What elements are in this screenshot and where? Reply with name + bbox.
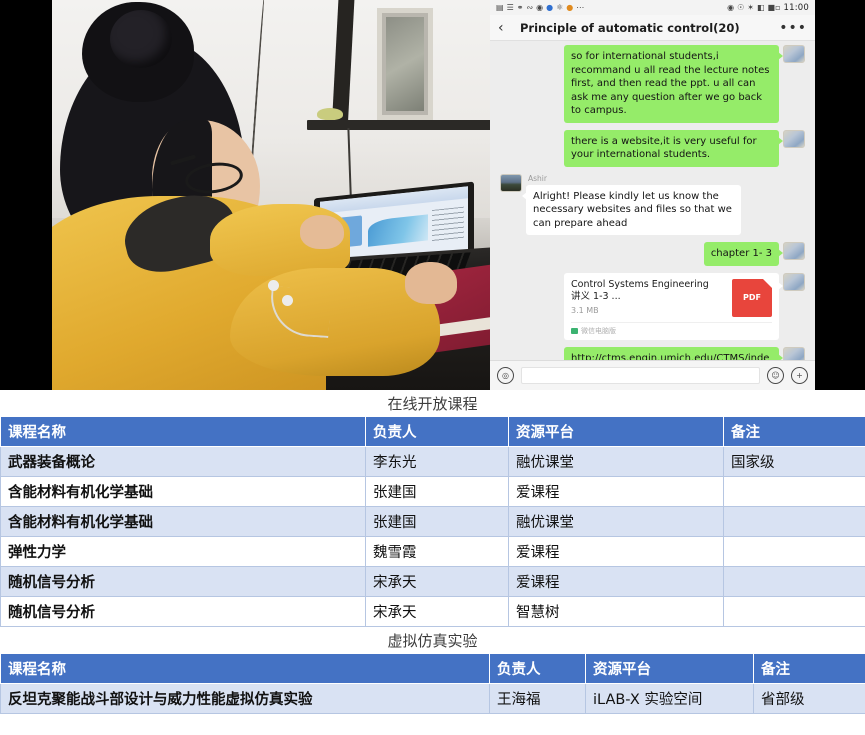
virtual-simulation-table: 课程名称 负责人 资源平台 备注 反坦克聚能战斗部设计与威力性能虚拟仿真实验 王…	[0, 653, 865, 714]
silent-icon: ☉	[737, 4, 744, 12]
status-icons-right: ◉ ☉ ✶ ◧ ■▫ 11:00	[727, 3, 809, 13]
cell-owner: 王海福	[490, 684, 586, 714]
photo-screen-text	[432, 207, 464, 244]
table-row: 弹性力学 魏雪霞 爱课程	[1, 537, 865, 567]
section-title: 在线开放课程	[0, 390, 865, 416]
signal-icon: ☰	[507, 4, 514, 12]
wechat-chat-screenshot: ▤ ☰ ⚭ ∾ ◉ ● ⚛ ● ⋯ ◉ ☉ ✶ ◧ ■▫ 11:00 ‹ Pri…	[490, 0, 815, 390]
cell-note	[724, 507, 865, 537]
column-header-course: 课程名称	[1, 417, 366, 447]
wechat-pc-icon	[571, 328, 578, 334]
cell-platform: 融优课堂	[509, 447, 724, 477]
pdf-icon: PDF	[732, 279, 772, 317]
cell-platform: 智慧树	[509, 597, 724, 627]
table-row: 武器装备概论 李东光 融优课堂 国家级	[1, 447, 865, 477]
dot-icon: ●	[546, 4, 553, 12]
photo-screen-chart	[368, 214, 428, 246]
photo-shelf	[307, 120, 490, 130]
cell-owner: 魏雪霞	[366, 537, 509, 567]
column-header-platform: 资源平台	[586, 654, 754, 684]
cell-platform: 爱课程	[509, 537, 724, 567]
battery-icon: ■▫	[768, 4, 781, 12]
column-header-course: 课程名称	[1, 654, 490, 684]
photo-hair-bun-highlight	[110, 10, 172, 68]
status-icons-left: ▤ ☰ ⚭ ∾ ◉ ● ⚛ ● ⋯	[496, 4, 584, 12]
column-header-note: 备注	[754, 654, 865, 684]
file-info: Control Systems Engineering 讲义 1-3 ... 3…	[571, 279, 716, 316]
sync-icon: ∾	[526, 4, 533, 12]
file-card[interactable]: Control Systems Engineering 讲义 1-3 ... 3…	[564, 273, 779, 340]
bluetooth-icon: ✶	[747, 4, 754, 12]
cell-course: 武器装备概论	[1, 447, 366, 477]
chat-message-out: so for international students,i recomman…	[496, 45, 809, 123]
message-sender: Ashir	[528, 174, 547, 183]
chat-message-out: chapter 1- 3	[496, 242, 809, 266]
eye-icon: ◉	[727, 4, 734, 12]
more-icon: ⋯	[576, 4, 584, 12]
table-header-row: 课程名称 负责人 资源平台 备注	[1, 654, 865, 684]
section-title: 虚拟仿真实验	[0, 627, 865, 653]
column-header-platform: 资源平台	[509, 417, 724, 447]
photo-earbud-left	[268, 280, 279, 291]
photo-picture-frame-inner	[386, 17, 424, 111]
cell-note: 省部级	[754, 684, 865, 714]
keyboard-icon: ▤	[496, 4, 504, 12]
cell-note: 国家级	[724, 447, 865, 477]
alarm-icon: ●	[566, 4, 573, 12]
cell-owner: 张建国	[366, 477, 509, 507]
photo-right-hand	[405, 262, 457, 304]
cell-course: 含能材料有机化学基础	[1, 507, 366, 537]
cell-owner: 李东光	[366, 447, 509, 477]
photo-left-hand	[300, 215, 344, 249]
cell-owner: 宋承天	[366, 567, 509, 597]
file-name: Control Systems Engineering 讲义 1-3 ...	[571, 279, 716, 305]
message-bubble[interactable]: Alright! Please kindly let us know the n…	[526, 185, 741, 236]
cell-course: 反坦克聚能战斗部设计与威力性能虚拟仿真实验	[1, 684, 490, 714]
cell-note	[724, 567, 865, 597]
cell-note	[724, 477, 865, 507]
voice-input-icon[interactable]: ◎	[497, 367, 514, 384]
column-header-owner: 负责人	[490, 654, 586, 684]
message-bubble[interactable]: so for international students,i recomman…	[564, 45, 779, 123]
photo-shelf-object	[317, 108, 343, 120]
add-attachment-icon[interactable]: +	[791, 367, 808, 384]
file-card-footer: 微信电脑版	[571, 322, 772, 336]
photo-earbud-right	[282, 295, 293, 306]
chat-message-file: Control Systems Engineering 讲义 1-3 ... 3…	[496, 273, 809, 340]
file-size: 3.1 MB	[571, 306, 716, 315]
cell-platform: iLAB-X 实验空间	[586, 684, 754, 714]
avatar[interactable]	[783, 242, 805, 260]
table-row: 随机信号分析 宋承天 智慧树	[1, 597, 865, 627]
column-header-note: 备注	[724, 417, 865, 447]
column-header-owner: 负责人	[366, 417, 509, 447]
vibrate-icon: ◧	[757, 4, 765, 12]
globe-icon: ⚛	[556, 4, 563, 12]
cell-platform: 爱课程	[509, 477, 724, 507]
cell-owner: 宋承天	[366, 597, 509, 627]
chat-navbar: ‹ Principle of automatic control(20) •••	[490, 15, 815, 41]
chat-message-out: there is a website,it is very useful for…	[496, 130, 809, 167]
message-bubble[interactable]: chapter 1- 3	[704, 242, 779, 266]
message-input[interactable]	[521, 367, 760, 384]
wifi-icon: ⚭	[517, 4, 524, 12]
chat-input-bar: ◎ ☺ +	[490, 360, 815, 390]
table-row: 含能材料有机化学基础 张建国 爱课程	[1, 477, 865, 507]
cell-course: 弹性力学	[1, 537, 366, 567]
photo-picture-frame	[377, 8, 433, 120]
back-icon[interactable]: ‹	[498, 20, 514, 36]
avatar[interactable]	[783, 45, 805, 63]
chat-title: Principle of automatic control(20)	[514, 21, 779, 35]
cell-note	[724, 537, 865, 567]
table-header-row: 课程名称 负责人 资源平台 备注	[1, 417, 865, 447]
message-bubble[interactable]: there is a website,it is very useful for…	[564, 130, 779, 167]
status-time: 11:00	[784, 3, 810, 13]
cell-platform: 爱课程	[509, 567, 724, 597]
more-options-icon[interactable]: •••	[779, 20, 807, 36]
phone-status-bar: ▤ ☰ ⚭ ∾ ◉ ● ⚛ ● ⋯ ◉ ☉ ✶ ◧ ■▫ 11:00	[490, 0, 815, 15]
cell-course: 随机信号分析	[1, 597, 366, 627]
student-at-laptop-photo	[52, 0, 490, 390]
cell-owner: 张建国	[366, 507, 509, 537]
avatar[interactable]	[783, 273, 805, 291]
avatar[interactable]	[783, 130, 805, 148]
cell-note	[724, 597, 865, 627]
media-strip: ▤ ☰ ⚭ ∾ ◉ ● ⚛ ● ⋯ ◉ ☉ ✶ ◧ ■▫ 11:00 ‹ Pri…	[0, 0, 865, 390]
section-virtual-simulation: 虚拟仿真实验 课程名称 负责人 资源平台 备注 反坦克聚能战斗部设计与威力性能虚…	[0, 627, 865, 714]
emoji-icon[interactable]: ☺	[767, 367, 784, 384]
camera-icon: ◉	[536, 4, 543, 12]
file-source-label: 微信电脑版	[581, 326, 616, 336]
chat-message-list[interactable]: so for international students,i recomman…	[490, 41, 815, 371]
message-column: Ashir Alright! Please kindly let us know…	[526, 174, 741, 236]
online-open-courses-table: 课程名称 负责人 资源平台 备注 武器装备概论 李东光 融优课堂 国家级 含能材…	[0, 416, 865, 627]
table-row: 反坦克聚能战斗部设计与威力性能虚拟仿真实验 王海福 iLAB-X 实验空间 省部…	[1, 684, 865, 714]
section-online-open-courses: 在线开放课程 课程名称 负责人 资源平台 备注 武器装备概论 李东光 融优课堂 …	[0, 390, 865, 627]
file-card-top: Control Systems Engineering 讲义 1-3 ... 3…	[571, 279, 772, 317]
table-row: 随机信号分析 宋承天 爱课程	[1, 567, 865, 597]
avatar[interactable]	[500, 174, 522, 192]
table-row: 含能材料有机化学基础 张建国 融优课堂	[1, 507, 865, 537]
chat-message-in: Ashir Alright! Please kindly let us know…	[496, 174, 809, 236]
cell-platform: 融优课堂	[509, 507, 724, 537]
cell-course: 随机信号分析	[1, 567, 366, 597]
cell-course: 含能材料有机化学基础	[1, 477, 366, 507]
